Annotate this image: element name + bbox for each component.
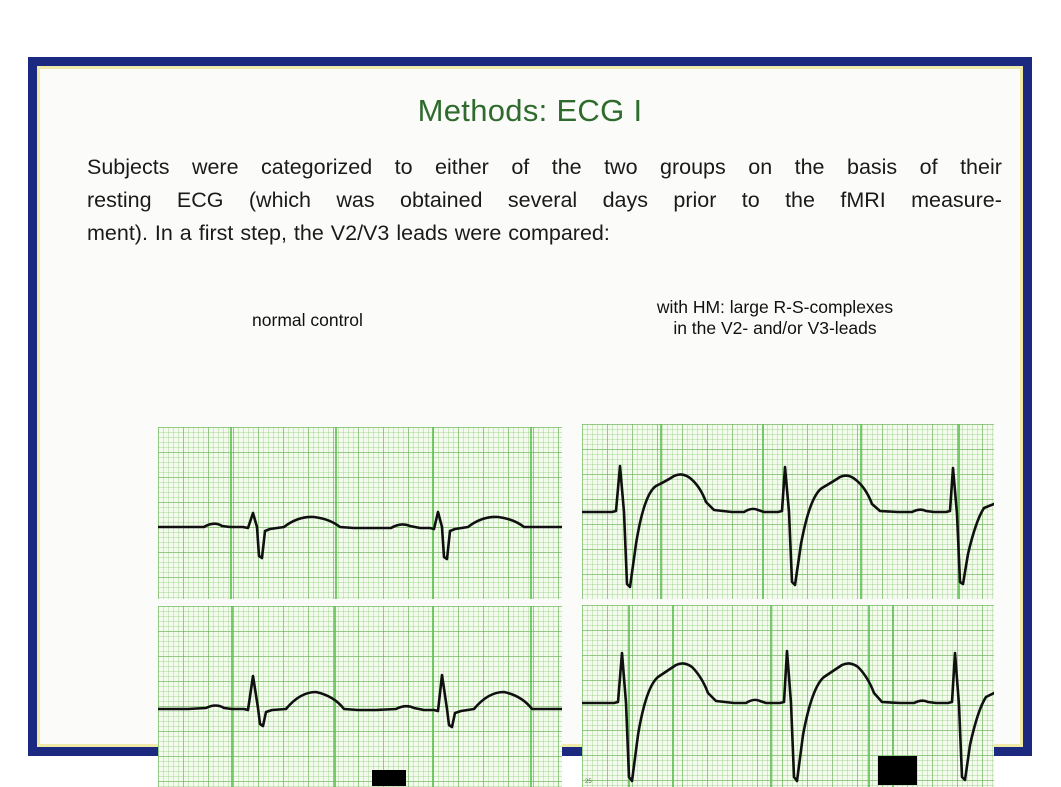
ecg-panel-hm-v3: 25 [582,605,994,787]
ecg-panel-normal-v3 [158,606,562,787]
ecg-panel-hm-v2 [582,424,994,599]
ecg-panel-normal-v2 [158,427,562,599]
ecg-paper-stamp: 25 [585,779,592,785]
slide-root: Methods: ECG I Subjects were categorized… [0,0,1061,768]
ecg-figure-area: normal control with HM: large R-S-comple… [40,69,1020,744]
ecg-calibration-marker [372,770,406,786]
caption-normal-control: normal control [160,310,455,331]
ecg-waveform-hm-v2 [582,424,994,599]
ecg-waveform-hm-v3 [582,605,994,787]
caption-with-hm: with HM: large R-S-complexes in the V2- … [560,297,990,339]
ecg-calibration-marker [878,756,917,785]
ecg-waveform-normal-v2 [158,427,562,599]
caption-with-hm-line1: with HM: large R-S-complexes [560,297,990,318]
caption-with-hm-line2: in the V2- and/or V3-leads [560,318,990,339]
slide-frame: Methods: ECG I Subjects were categorized… [28,57,1032,756]
slide-frame-inner-border: Methods: ECG I Subjects were categorized… [37,66,1023,747]
ecg-waveform-normal-v3 [158,606,562,787]
